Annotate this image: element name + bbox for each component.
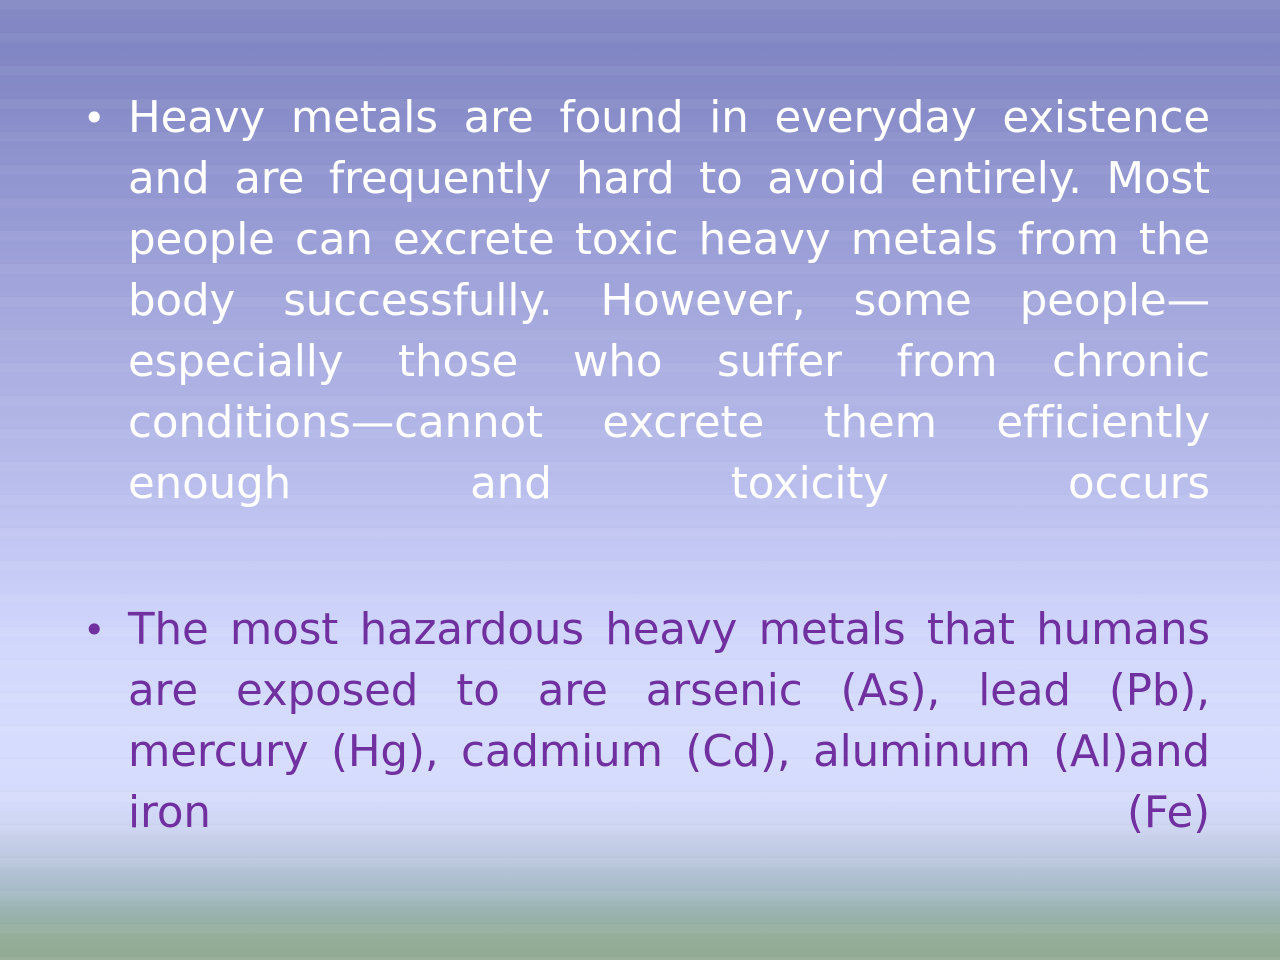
bullet-list-item-1-text: Heavy metals are found in everyday exist… (128, 88, 1210, 576)
bullet-list-item-2: • The most hazardous heavy metals that h… (60, 600, 1210, 905)
bullet-list-item-2-text: The most hazardous heavy metals that hum… (128, 600, 1210, 905)
bullet-list-item-1: • Heavy metals are found in everyday exi… (60, 88, 1210, 576)
bullet-point-icon: • (83, 600, 105, 661)
bullet-point-icon: • (83, 88, 105, 149)
slide-content-body: • Heavy metals are found in everyday exi… (60, 88, 1210, 905)
presentation-slide: • Heavy metals are found in everyday exi… (0, 0, 1280, 960)
